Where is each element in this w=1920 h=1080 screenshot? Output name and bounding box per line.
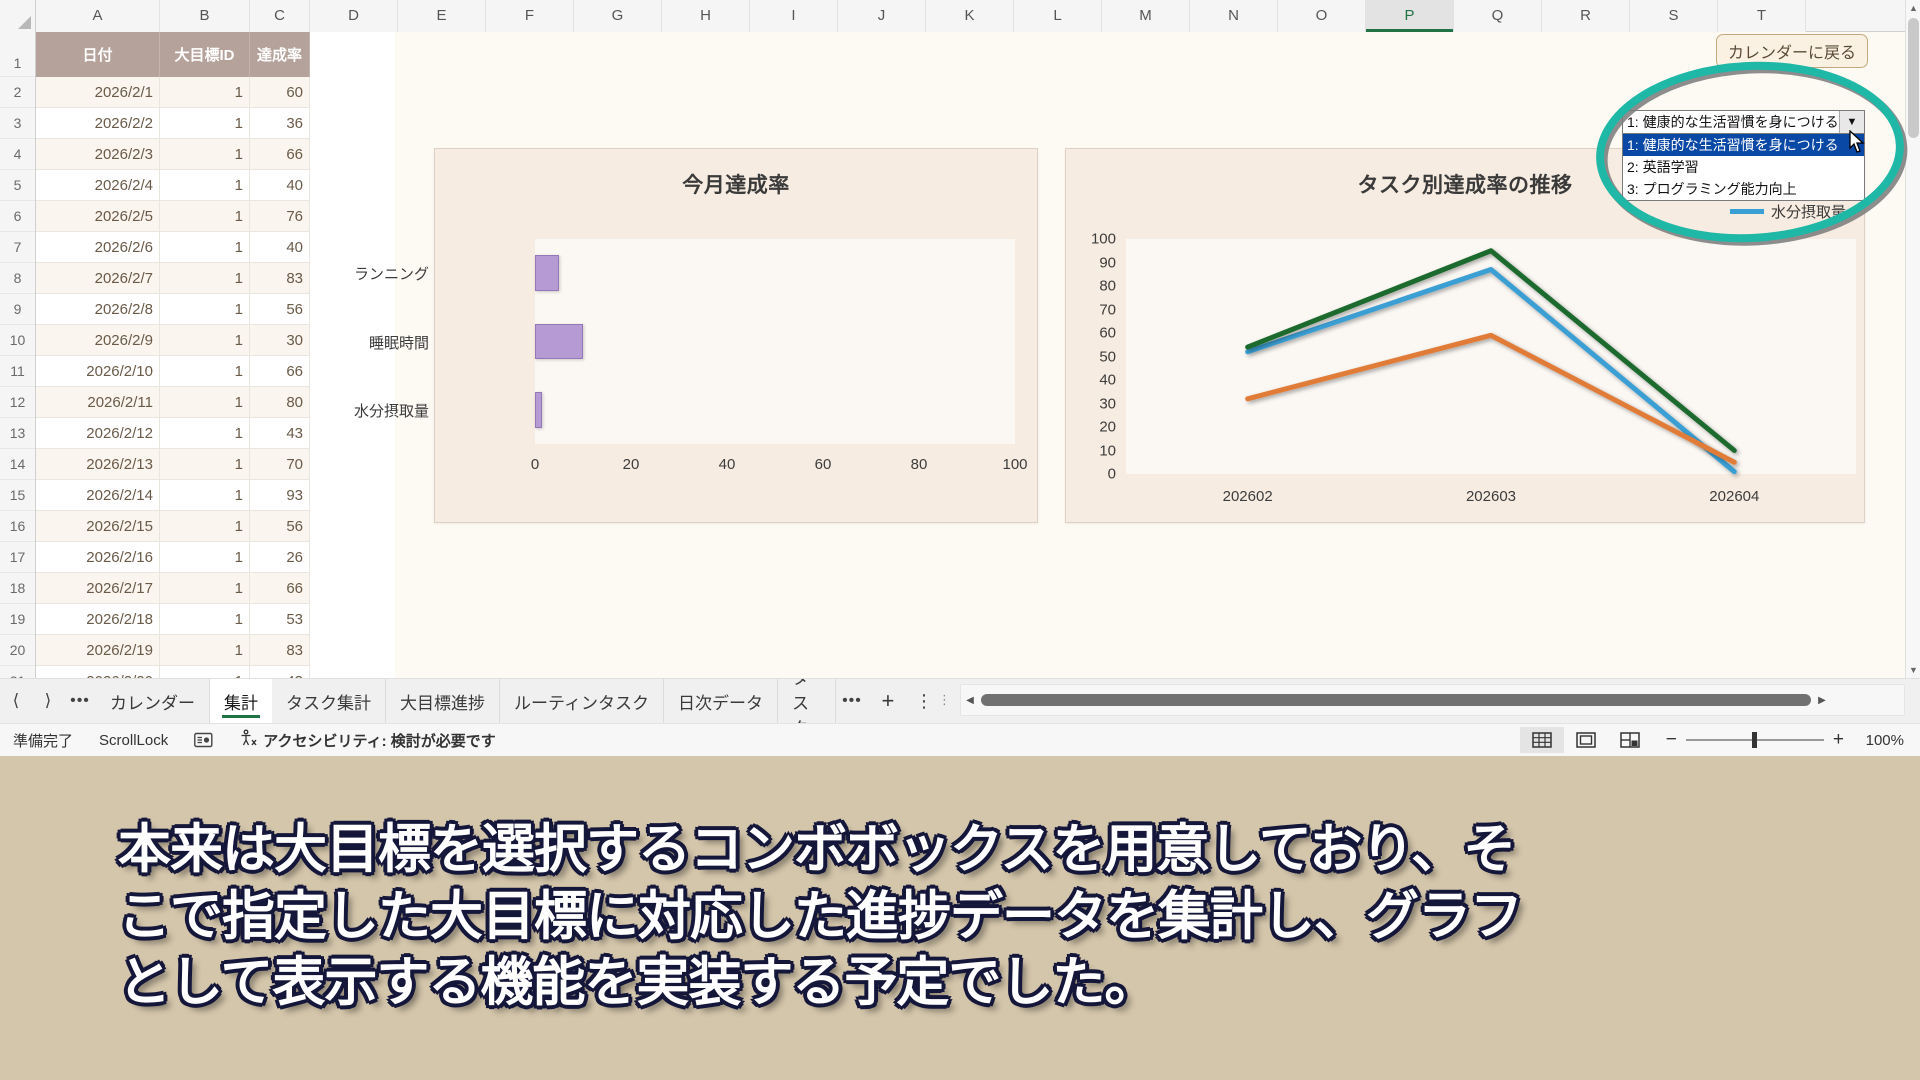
table-cell[interactable]: 2026/2/5 [36, 201, 160, 232]
bar-水分摂取量 [535, 392, 542, 428]
column-header-H[interactable]: H [662, 0, 750, 32]
row-header-12[interactable]: 12 [0, 387, 35, 418]
column-header-L[interactable]: L [1014, 0, 1102, 32]
bar-chart-title: 今月達成率 [435, 169, 1037, 199]
status-bar: 準備完了 ScrollLock アクセシビリティ: 検討が必要です − + 10… [0, 723, 1920, 756]
bar-chart-plot-area [535, 239, 1015, 444]
row-header-13[interactable]: 13 [0, 418, 35, 449]
line-x-tick: 202603 [1466, 488, 1516, 505]
row-header-16[interactable]: 16 [0, 511, 35, 542]
sheet-tab-タスク[interactable]: タスク [778, 679, 836, 723]
tab-nav-ellipsis-icon[interactable]: ••• [64, 679, 96, 723]
caption-line-3: として表示する機能を実装する予定でした。 [118, 951, 1802, 1016]
column-header-P[interactable]: P [1366, 0, 1454, 32]
column-header-S[interactable]: S [1630, 0, 1718, 32]
table-cell[interactable]: 66 [250, 356, 310, 387]
table-cell[interactable]: 1 [160, 635, 250, 666]
line-x-tick: 202604 [1709, 488, 1759, 505]
table-header-cell[interactable]: 日付 [36, 32, 160, 77]
table-cell[interactable]: 40 [250, 170, 310, 201]
table-row[interactable]: 2026/2/1160 [36, 77, 1905, 108]
zoom-knob[interactable] [1752, 732, 1757, 748]
column-header-R[interactable]: R [1542, 0, 1630, 32]
scroll-down-arrow-icon[interactable]: ▼ [1906, 662, 1920, 678]
line-chart-plot-area [1126, 239, 1856, 474]
combobox-option[interactable]: 3: プログラミング能力向上 [1623, 178, 1864, 200]
chevron-left-icon[interactable]: ⟨ [0, 679, 32, 723]
vertical-scroll-thumb[interactable] [1908, 18, 1919, 138]
normal-view-icon[interactable] [1520, 727, 1564, 753]
row-header-8[interactable]: 8 [0, 263, 35, 294]
column-header-T[interactable]: T [1718, 0, 1806, 32]
table-cell[interactable]: 2026/2/20 [36, 666, 160, 678]
table-cell[interactable]: 1 [160, 294, 250, 325]
column-header-I[interactable]: I [750, 0, 838, 32]
column-header-J[interactable]: J [838, 0, 926, 32]
line-y-tick: 0 [1108, 466, 1116, 483]
table-header-cell[interactable]: 達成率 [250, 32, 310, 77]
goal-selector-combobox[interactable]: 1: 健康的な生活習慣を身につける ▼ 1: 健康的な生活習慣を身につける2: … [1622, 110, 1865, 201]
bar-x-tick: 100 [1002, 456, 1027, 473]
row-header-17[interactable]: 17 [0, 542, 35, 573]
zoom-slider[interactable]: − + [1652, 729, 1858, 751]
scroll-right-arrow-icon[interactable]: ▶ [1813, 695, 1831, 706]
accessibility-status[interactable]: アクセシビリティ: 検討が必要です [226, 729, 509, 751]
table-cell[interactable]: 56 [250, 294, 310, 325]
table-cell[interactable]: 1 [160, 77, 250, 108]
table-cell[interactable]: 1 [160, 449, 250, 480]
table-cell[interactable]: 26 [250, 542, 310, 573]
table-cell[interactable]: 2026/2/16 [36, 542, 160, 573]
table-cell[interactable]: 1 [160, 201, 250, 232]
vertical-ellipsis-icon[interactable]: ⋮ [908, 679, 940, 723]
bar-category-label: 睡眠時間 [369, 332, 429, 353]
table-cell[interactable]: 1 [160, 108, 250, 139]
column-header-F[interactable]: F [486, 0, 574, 32]
column-header-A[interactable]: A [36, 0, 160, 32]
table-cell[interactable]: 1 [160, 387, 250, 418]
table-cell[interactable]: 2026/2/13 [36, 449, 160, 480]
row-header-9[interactable]: 9 [0, 294, 35, 325]
table-cell[interactable]: 2026/2/12 [36, 418, 160, 449]
table-cell[interactable]: 1 [160, 480, 250, 511]
status-ready: 準備完了 [0, 730, 86, 751]
vertical-scrollbar[interactable]: ▲ ▼ [1905, 0, 1920, 678]
table-cell[interactable]: 36 [250, 108, 310, 139]
table-cell[interactable]: 66 [250, 139, 310, 170]
table-cell[interactable]: 2026/2/3 [36, 139, 160, 170]
horizontal-scroll-thumb[interactable] [981, 694, 1811, 706]
bar-x-tick: 20 [623, 456, 640, 473]
line-x-tick: 202602 [1223, 488, 1273, 505]
row-header-11[interactable]: 11 [0, 356, 35, 387]
table-cell[interactable]: 2026/2/2 [36, 108, 160, 139]
row-header-column[interactable]: 123456789101112131415161718192021 [0, 32, 36, 678]
table-row[interactable]: 2026/2/18153 [36, 604, 1905, 635]
table-cell[interactable]: 80 [250, 387, 310, 418]
table-cell[interactable]: 1 [160, 139, 250, 170]
table-cell[interactable]: 83 [250, 263, 310, 294]
back-to-calendar-label: カレンダーに戻る [1728, 39, 1856, 63]
row-header-7[interactable]: 7 [0, 232, 35, 263]
line-y-tick: 70 [1099, 301, 1116, 318]
column-header-K[interactable]: K [926, 0, 1014, 32]
line-chart-object[interactable]: タスク別達成率の推移 水分摂取量 1009080706050403020100 … [1065, 148, 1865, 523]
table-cell[interactable]: 56 [250, 511, 310, 542]
bar-x-tick: 80 [911, 456, 928, 473]
table-cell[interactable]: 1 [160, 511, 250, 542]
table-row[interactable]: 2026/2/16126 [36, 542, 1905, 573]
table-cell[interactable]: 1 [160, 356, 250, 387]
zoom-level-label[interactable]: 100% [1858, 732, 1920, 749]
legend-label-water: 水分摂取量 [1771, 201, 1846, 222]
table-cell[interactable]: 2026/2/17 [36, 573, 160, 604]
combobox-closed-field[interactable]: 1: 健康的な生活習慣を身につける ▼ [1622, 110, 1865, 134]
legend-swatch-water [1730, 209, 1764, 214]
line-y-tick: 30 [1099, 395, 1116, 412]
table-row[interactable]: 2026/2/20143 [36, 666, 1905, 678]
table-cell[interactable]: 1 [160, 418, 250, 449]
status-scroll-lock: ScrollLock [86, 732, 181, 749]
table-row[interactable]: 2026/2/19183 [36, 635, 1905, 666]
line-y-tick: 90 [1099, 254, 1116, 271]
table-cell[interactable]: 1 [160, 263, 250, 294]
table-cell[interactable]: 2026/2/15 [36, 511, 160, 542]
line-chart-legend: 水分摂取量 [1730, 201, 1846, 222]
table-cell[interactable]: 1 [160, 666, 250, 678]
table-cell[interactable]: 2026/2/18 [36, 604, 160, 635]
scroll-left-arrow-icon[interactable]: ◀ [961, 695, 979, 706]
line-y-tick: 50 [1099, 348, 1116, 365]
table-cell[interactable]: 2026/2/9 [36, 325, 160, 356]
row-header-2[interactable]: 2 [0, 77, 35, 108]
column-header-C[interactable]: C [250, 0, 310, 32]
scroll-up-arrow-icon[interactable]: ▲ [1906, 0, 1920, 16]
table-cell[interactable]: 2026/2/10 [36, 356, 160, 387]
table-cell[interactable]: 1 [160, 542, 250, 573]
line-y-tick: 80 [1099, 278, 1116, 295]
line-y-tick: 10 [1099, 442, 1116, 459]
table-cell[interactable]: 2026/2/6 [36, 232, 160, 263]
tab-split-grip[interactable]: ⋮ [938, 690, 948, 710]
combobox-dropdown-list[interactable]: 1: 健康的な生活習慣を身につける2: 英語学習3: プログラミング能力向上 [1622, 134, 1865, 201]
table-cell[interactable]: 1 [160, 573, 250, 604]
bar-x-tick: 40 [719, 456, 736, 473]
accessibility-icon [239, 729, 257, 751]
table-cell[interactable]: 93 [250, 480, 310, 511]
row-header-19[interactable]: 19 [0, 604, 35, 635]
sheet-tab-集計[interactable]: 集計 [210, 679, 272, 723]
table-cell[interactable]: 1 [160, 604, 250, 635]
zoom-out-button[interactable]: − [1666, 729, 1677, 751]
row-header-3[interactable]: 3 [0, 108, 35, 139]
row-header-10[interactable]: 10 [0, 325, 35, 356]
zoom-in-button[interactable]: + [1833, 729, 1844, 751]
table-cell[interactable]: 1 [160, 170, 250, 201]
column-header-B[interactable]: B [160, 0, 250, 32]
line-y-tick: 40 [1099, 372, 1116, 389]
line-y-tick: 60 [1099, 325, 1116, 342]
row-header-20[interactable]: 20 [0, 635, 35, 666]
excel-window: ABCDEFGHIJKLMNOPQRST 1234567891011121314… [0, 0, 1920, 1080]
column-header-G[interactable]: G [574, 0, 662, 32]
table-cell[interactable]: 2026/2/8 [36, 294, 160, 325]
column-header-D[interactable]: D [310, 0, 398, 32]
sheet-tab-日次データ[interactable]: 日次データ [664, 679, 778, 723]
table-cell[interactable]: 43 [250, 418, 310, 449]
record-macro-icon[interactable] [181, 732, 226, 748]
combobox-option[interactable]: 1: 健康的な生活習慣を身につける [1623, 134, 1864, 156]
row-header-1[interactable]: 1 [0, 32, 35, 77]
back-to-calendar-button[interactable]: カレンダーに戻る [1716, 34, 1868, 68]
zoom-track[interactable] [1686, 739, 1824, 741]
column-header-row[interactable]: ABCDEFGHIJKLMNOPQRST [0, 0, 1905, 32]
table-cell[interactable]: 2026/2/4 [36, 170, 160, 201]
row-header-18[interactable]: 18 [0, 573, 35, 604]
bar-睡眠時間 [535, 324, 583, 360]
line-y-tick: 100 [1091, 231, 1116, 248]
column-header-M[interactable]: M [1102, 0, 1190, 32]
table-cell[interactable]: 83 [250, 635, 310, 666]
add-sheet-button[interactable]: + [868, 679, 908, 723]
page-break-view-icon[interactable] [1608, 727, 1652, 753]
column-header-Q[interactable]: Q [1454, 0, 1542, 32]
row-header-6[interactable]: 6 [0, 201, 35, 232]
bar-ランニング [535, 255, 559, 291]
table-cell[interactable]: 2026/2/1 [36, 77, 160, 108]
column-header-O[interactable]: O [1278, 0, 1366, 32]
table-cell[interactable]: 2026/2/14 [36, 480, 160, 511]
table-cell[interactable]: 2026/2/11 [36, 387, 160, 418]
caption-line-1: 本来は大目標を選択するコンボボックスを用意しており、そ [118, 818, 1802, 883]
table-cell[interactable]: 66 [250, 573, 310, 604]
bar-category-label: ランニング [354, 263, 429, 284]
page-layout-icon[interactable] [1564, 727, 1608, 753]
bar-x-tick: 60 [815, 456, 832, 473]
row-header-4[interactable]: 4 [0, 139, 35, 170]
line-y-tick: 20 [1099, 419, 1116, 436]
bar-x-tick: 0 [531, 456, 539, 473]
table-cell[interactable]: 60 [250, 77, 310, 108]
table-header-cell[interactable]: 大目標ID [160, 32, 250, 77]
column-header-N[interactable]: N [1190, 0, 1278, 32]
table-cell[interactable]: 1 [160, 232, 250, 263]
bar-category-label: 水分摂取量 [354, 400, 429, 421]
select-all-corner[interactable] [0, 0, 36, 32]
row-header-15[interactable]: 15 [0, 480, 35, 511]
sheet-tab-タスク集計[interactable]: タスク集計 [272, 679, 386, 723]
table-row[interactable]: 2026/2/17166 [36, 573, 1905, 604]
table-cell[interactable]: 2026/2/19 [36, 635, 160, 666]
video-caption-overlay: 本来は大目標を選択するコンボボックスを用意しており、そ こで指定した大目標に対応… [0, 756, 1920, 1080]
column-header-E[interactable]: E [398, 0, 486, 32]
table-header-row: 日付大目標ID達成率 [36, 32, 1905, 77]
caption-line-2: こで指定した大目標に対応した進捗データを集計し、グラフ [118, 885, 1802, 950]
table-cell[interactable]: 53 [250, 604, 310, 635]
table-cell[interactable]: 2026/2/7 [36, 263, 160, 294]
chevron-down-icon[interactable]: ▼ [1839, 111, 1864, 133]
sheet-tab-カレンダー[interactable]: カレンダー [96, 679, 210, 723]
table-cell[interactable]: 76 [250, 201, 310, 232]
table-cell[interactable]: 70 [250, 449, 310, 480]
sheet-tab-ルーティンタスク[interactable]: ルーティンタスク [500, 679, 664, 723]
row-header-21[interactable]: 21 [0, 666, 35, 678]
combobox-selected-value: 1: 健康的な生活習慣を身につける [1623, 111, 1839, 133]
row-header-14[interactable]: 14 [0, 449, 35, 480]
horizontal-scrollbar[interactable]: ◀ ▶ [960, 684, 1905, 716]
accessibility-label: アクセシビリティ: 検討が必要です [263, 730, 496, 751]
table-cell[interactable]: 43 [250, 666, 310, 678]
tab-overflow-ellipsis-icon[interactable]: ••• [836, 679, 868, 723]
table-cell[interactable]: 40 [250, 232, 310, 263]
table-cell[interactable]: 30 [250, 325, 310, 356]
chevron-right-icon[interactable]: ⟩ [32, 679, 64, 723]
combobox-option[interactable]: 2: 英語学習 [1623, 156, 1864, 178]
row-header-5[interactable]: 5 [0, 170, 35, 201]
sheet-tab-大目標進捗[interactable]: 大目標進捗 [386, 679, 500, 723]
bar-chart-object[interactable]: 今月達成率 ランニング睡眠時間水分摂取量 020406080100 [434, 148, 1038, 523]
table-cell[interactable]: 1 [160, 325, 250, 356]
